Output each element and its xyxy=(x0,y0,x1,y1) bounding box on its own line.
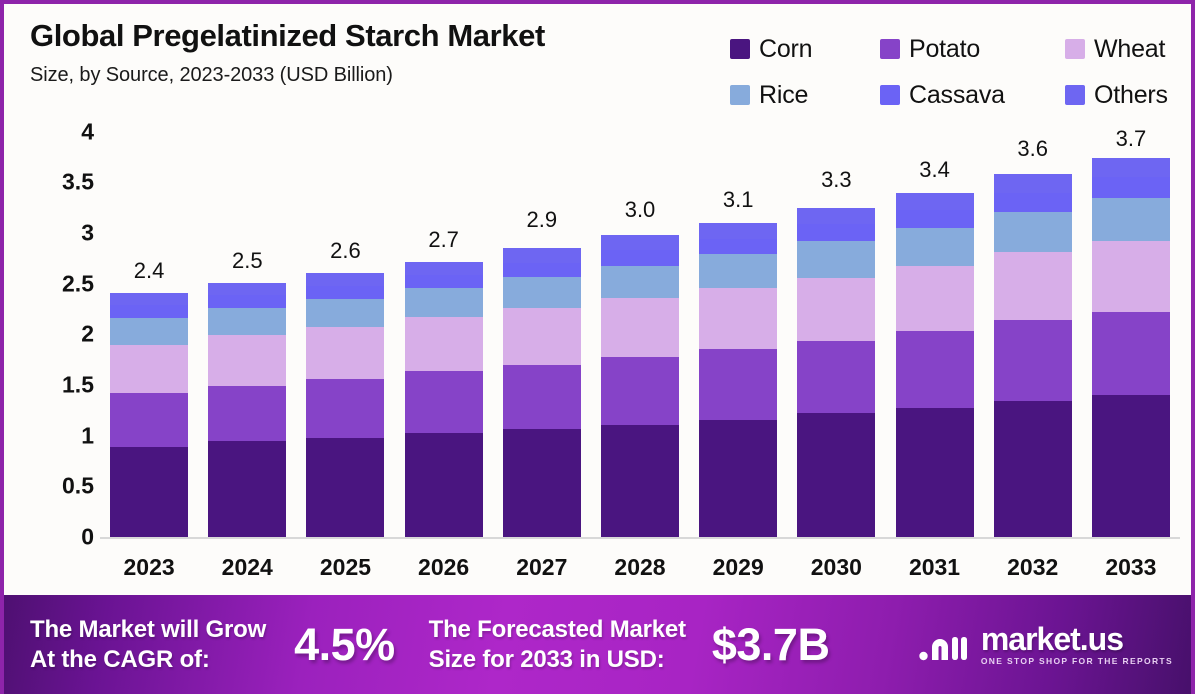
x-axis-label-2024: 2024 xyxy=(208,554,286,581)
bar-segment-rice[interactable] xyxy=(503,277,581,308)
legend-swatch-others-icon xyxy=(1065,85,1085,105)
bar-total-label: 3.3 xyxy=(821,167,852,193)
bar-segment-corn[interactable] xyxy=(306,438,384,537)
bar-group-2025[interactable] xyxy=(306,273,384,537)
y-axis: 00.511.522.533.54 xyxy=(38,112,94,599)
y-axis-tick: 1 xyxy=(38,422,94,449)
forecast-value: $3.7B xyxy=(712,619,830,671)
forecast-label-line1: The Forecasted Market xyxy=(429,616,686,643)
chart-header: Global Pregelatinized Starch Market Size… xyxy=(4,4,1191,112)
x-axis-label-2026: 2026 xyxy=(405,554,483,581)
bar-group-2029[interactable] xyxy=(699,223,777,537)
bar-group-2032[interactable] xyxy=(994,174,1072,537)
bar-group-2026[interactable] xyxy=(405,262,483,537)
y-axis-tick: 3 xyxy=(38,220,94,247)
bar-segment-potato[interactable] xyxy=(601,357,679,425)
bar-segment-cassava[interactable] xyxy=(208,295,286,308)
bar-segment-potato[interactable] xyxy=(896,331,974,408)
bar-segment-potato[interactable] xyxy=(306,379,384,438)
brand-logo[interactable]: market.us ONE STOP SHOP FOR THE REPORTS xyxy=(918,623,1173,666)
bar-segment-others[interactable] xyxy=(306,273,384,286)
bar-group-2024[interactable] xyxy=(208,283,286,537)
bar-segment-wheat[interactable] xyxy=(896,266,974,332)
footer-banner: The Market will Grow At the CAGR of: 4.5… xyxy=(0,595,1195,694)
bar-segment-cassava[interactable] xyxy=(1092,177,1170,197)
bar-segment-corn[interactable] xyxy=(503,429,581,537)
bar-segment-cassava[interactable] xyxy=(405,275,483,288)
bar-segment-rice[interactable] xyxy=(601,266,679,298)
bar-segment-cassava[interactable] xyxy=(306,286,384,299)
bar-segment-cassava[interactable] xyxy=(699,239,777,254)
bar-segment-cassava[interactable] xyxy=(110,305,188,318)
bar-segment-corn[interactable] xyxy=(699,420,777,538)
cagr-label: The Market will Grow At the CAGR of: xyxy=(30,615,266,674)
bar-group-2030[interactable] xyxy=(797,208,875,537)
x-axis-label-2023: 2023 xyxy=(110,554,188,581)
market-us-logo-icon xyxy=(918,625,970,665)
bar-segment-others[interactable] xyxy=(405,262,483,275)
bar-group-2027[interactable] xyxy=(503,248,581,537)
bar-segment-rice[interactable] xyxy=(994,212,1072,253)
bar-segment-corn[interactable] xyxy=(1092,395,1170,537)
y-axis-tick: 2.5 xyxy=(38,270,94,297)
legend-item-rice[interactable]: Rice xyxy=(730,81,880,110)
bar-segment-cassava[interactable] xyxy=(601,250,679,265)
legend-item-corn[interactable]: Corn xyxy=(730,35,880,64)
bar-segment-rice[interactable] xyxy=(208,308,286,335)
bar-total-label: 2.9 xyxy=(527,207,558,233)
bar-segment-others[interactable] xyxy=(896,193,974,210)
infographic-root: Global Pregelatinized Starch Market Size… xyxy=(0,0,1195,694)
x-axis-label-2030: 2030 xyxy=(797,554,875,581)
bar-segment-cassava[interactable] xyxy=(896,210,974,228)
bar-segment-potato[interactable] xyxy=(1092,312,1170,395)
legend-swatch-cassava-icon xyxy=(880,85,900,105)
bar-group-2031[interactable] xyxy=(896,193,974,537)
x-axis-label-2028: 2028 xyxy=(601,554,679,581)
bar-total-label: 2.6 xyxy=(330,238,361,264)
bar-segment-cassava[interactable] xyxy=(994,193,1072,212)
legend-swatch-corn-icon xyxy=(730,39,750,59)
bar-segment-corn[interactable] xyxy=(797,413,875,537)
bar-segment-potato[interactable] xyxy=(699,349,777,420)
bar-segment-rice[interactable] xyxy=(797,241,875,277)
chart-legend: CornPotatoWheatRiceCassavaOthers xyxy=(730,18,1173,118)
bar-group-2028[interactable] xyxy=(601,235,679,537)
legend-swatch-rice-icon xyxy=(730,85,750,105)
bar-total-label: 3.6 xyxy=(1017,136,1048,162)
bar-segment-rice[interactable] xyxy=(306,299,384,327)
bar-segment-wheat[interactable] xyxy=(1092,241,1170,312)
x-axis-label-2033: 2033 xyxy=(1092,554,1170,581)
y-axis-tick: 0.5 xyxy=(38,473,94,500)
bar-segment-others[interactable] xyxy=(797,208,875,224)
y-axis-tick: 4 xyxy=(38,118,94,145)
bar-segment-potato[interactable] xyxy=(110,393,188,447)
bar-total-label: 2.4 xyxy=(134,258,165,284)
bar-segment-wheat[interactable] xyxy=(405,317,483,371)
bar-segment-wheat[interactable] xyxy=(699,288,777,349)
legend-label: Others xyxy=(1094,81,1168,110)
bar-segment-cassava[interactable] xyxy=(797,224,875,241)
bar-segment-corn[interactable] xyxy=(994,401,1072,537)
bar-segment-corn[interactable] xyxy=(110,447,188,537)
page-title: Global Pregelatinized Starch Market xyxy=(30,18,730,55)
x-axis-label-2031: 2031 xyxy=(896,554,974,581)
cagr-label-line2: At the CAGR of: xyxy=(30,646,210,673)
x-axis-label-2025: 2025 xyxy=(306,554,384,581)
bar-segment-wheat[interactable] xyxy=(797,278,875,341)
legend-swatch-wheat-icon xyxy=(1065,39,1085,59)
bar-segment-others[interactable] xyxy=(110,293,188,305)
x-axis-label-2027: 2027 xyxy=(503,554,581,581)
forecast-label: The Forecasted Market Size for 2033 in U… xyxy=(429,615,686,674)
bar-segment-rice[interactable] xyxy=(405,288,483,317)
title-block: Global Pregelatinized Starch Market Size… xyxy=(30,18,730,87)
y-axis-tick: 2 xyxy=(38,321,94,348)
forecast-label-line2: Size for 2033 in USD: xyxy=(429,646,665,673)
brand-text: market.us ONE STOP SHOP FOR THE REPORTS xyxy=(981,623,1173,666)
legend-item-others[interactable]: Others xyxy=(1065,81,1173,110)
bar-total-label: 3.1 xyxy=(723,187,754,213)
cagr-label-line1: The Market will Grow xyxy=(30,616,266,643)
bar-total-label: 3.0 xyxy=(625,197,656,223)
bar-segment-potato[interactable] xyxy=(208,386,286,441)
bar-segment-cassava[interactable] xyxy=(503,263,581,277)
bar-total-label: 2.5 xyxy=(232,248,263,274)
bar-segment-potato[interactable] xyxy=(994,320,1072,401)
bar-segment-others[interactable] xyxy=(699,223,777,239)
bar-segment-rice[interactable] xyxy=(110,318,188,344)
legend-item-wheat[interactable]: Wheat xyxy=(1065,35,1173,64)
legend-label: Potato xyxy=(909,35,980,64)
x-axis-label-2032: 2032 xyxy=(994,554,1072,581)
bar-segment-corn[interactable] xyxy=(601,425,679,537)
brand-name: market.us xyxy=(981,623,1173,655)
legend-item-potato[interactable]: Potato xyxy=(880,35,1065,64)
cagr-value: 4.5% xyxy=(294,619,395,671)
legend-item-cassava[interactable]: Cassava xyxy=(880,81,1065,110)
bar-segment-others[interactable] xyxy=(503,248,581,262)
bar-segment-wheat[interactable] xyxy=(503,308,581,365)
legend-label: Corn xyxy=(759,35,812,64)
bar-segment-potato[interactable] xyxy=(405,371,483,433)
bar-segment-others[interactable] xyxy=(208,283,286,295)
bar-segment-others[interactable] xyxy=(1092,158,1170,177)
y-axis-tick: 0 xyxy=(38,524,94,551)
bar-segment-rice[interactable] xyxy=(699,254,777,287)
bar-group-2023[interactable] xyxy=(110,293,188,537)
brand-tagline: ONE STOP SHOP FOR THE REPORTS xyxy=(981,657,1173,666)
legend-label: Cassava xyxy=(909,81,1005,110)
bar-segment-corn[interactable] xyxy=(405,433,483,537)
bar-group-2033[interactable] xyxy=(1092,158,1170,537)
bar-total-label: 3.7 xyxy=(1116,126,1147,152)
x-axis-label-2029: 2029 xyxy=(699,554,777,581)
plot-area: 00.511.522.533.54 2.420232.520242.620252… xyxy=(4,112,1191,599)
bar-total-label: 2.7 xyxy=(428,227,459,253)
bar-segment-rice[interactable] xyxy=(1092,198,1170,242)
bar-segment-wheat[interactable] xyxy=(994,252,1072,320)
bar-segment-others[interactable] xyxy=(994,174,1072,192)
bar-segment-wheat[interactable] xyxy=(110,345,188,394)
legend-label: Rice xyxy=(759,81,808,110)
bar-segment-corn[interactable] xyxy=(896,408,974,537)
chart-subtitle: Size, by Source, 2023-2033 (USD Billion) xyxy=(30,64,730,87)
bar-segment-corn[interactable] xyxy=(208,441,286,537)
bar-segment-others[interactable] xyxy=(601,235,679,250)
bar-segment-wheat[interactable] xyxy=(601,298,679,357)
bar-total-label: 3.4 xyxy=(919,157,950,183)
bar-segment-wheat[interactable] xyxy=(306,327,384,379)
bar-segment-wheat[interactable] xyxy=(208,335,286,386)
legend-label: Wheat xyxy=(1094,35,1165,64)
bar-segment-potato[interactable] xyxy=(797,341,875,414)
y-axis-tick: 1.5 xyxy=(38,372,94,399)
legend-swatch-potato-icon xyxy=(880,39,900,59)
bar-segment-rice[interactable] xyxy=(896,228,974,265)
y-axis-tick: 3.5 xyxy=(38,169,94,196)
bar-segment-potato[interactable] xyxy=(503,365,581,429)
bars-layer: 2.420232.520242.620252.720262.920273.020… xyxy=(100,112,1180,599)
